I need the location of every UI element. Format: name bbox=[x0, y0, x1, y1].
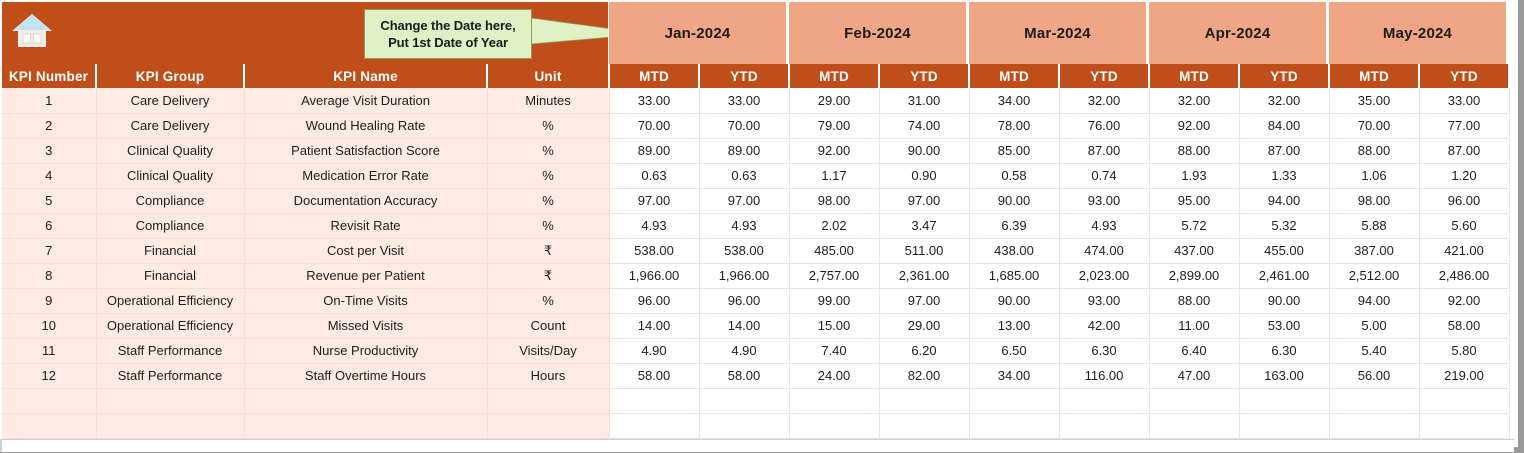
kpi-name-cell[interactable] bbox=[244, 413, 487, 438]
month-header-jan-2024: Jan-2024 bbox=[608, 0, 788, 64]
table-header-row: KPI NumberKPI GroupKPI NameUnitMTDYTDMTD… bbox=[1, 64, 1509, 88]
value-cell-jan-2024-mtd[interactable]: 1,966.00 bbox=[609, 263, 699, 288]
value-cell-may-2024-mtd[interactable]: 5.40 bbox=[1329, 338, 1419, 363]
unit-cell[interactable]: % bbox=[487, 213, 609, 238]
table-row: 12Staff PerformanceStaff Overtime HoursH… bbox=[1, 363, 1509, 388]
value-cell-may-2024-ytd[interactable]: 219.00 bbox=[1419, 363, 1509, 388]
value-cell-apr-2024-ytd[interactable]: 87.00 bbox=[1239, 138, 1329, 163]
kpi-dashboard-sheet: Change the Date here, Put 1st Date of Ye… bbox=[0, 0, 1524, 453]
value-cell-may-2024-mtd[interactable]: 88.00 bbox=[1329, 138, 1419, 163]
value-cell-may-2024-ytd[interactable]: 5.60 bbox=[1419, 213, 1509, 238]
value-cell-jan-2024-ytd[interactable]: 33.00 bbox=[699, 88, 789, 113]
col-header-may-2024-mtd[interactable]: MTD bbox=[1329, 64, 1419, 88]
kpi-name-cell[interactable]: Revisit Rate bbox=[244, 213, 487, 238]
kpi-name-cell[interactable]: On-Time Visits bbox=[244, 288, 487, 313]
value-cell-may-2024-ytd[interactable] bbox=[1419, 413, 1509, 438]
kpi-name-cell[interactable]: Medication Error Rate bbox=[244, 163, 487, 188]
value-cell-mar-2024-ytd[interactable]: 93.00 bbox=[1059, 288, 1149, 313]
value-cell-may-2024-mtd[interactable]: 1.06 bbox=[1329, 163, 1419, 188]
kpi-name-cell[interactable]: Patient Satisfaction Score bbox=[244, 138, 487, 163]
value-cell-apr-2024-ytd[interactable]: 53.00 bbox=[1239, 313, 1329, 338]
value-cell-jan-2024-ytd[interactable]: 96.00 bbox=[699, 288, 789, 313]
value-cell-jan-2024-ytd[interactable]: 1,966.00 bbox=[699, 263, 789, 288]
value-cell-mar-2024-mtd[interactable]: 90.00 bbox=[969, 288, 1059, 313]
unit-cell[interactable]: % bbox=[487, 113, 609, 138]
value-cell-mar-2024-ytd[interactable]: 42.00 bbox=[1059, 313, 1149, 338]
unit-cell[interactable]: Hours bbox=[487, 363, 609, 388]
value-cell-jan-2024-ytd[interactable]: 14.00 bbox=[699, 313, 789, 338]
kpi-name-cell[interactable]: Wound Healing Rate bbox=[244, 113, 487, 138]
table-row: 1Care DeliveryAverage Visit DurationMinu… bbox=[1, 88, 1509, 113]
unit-cell[interactable]: ₹ bbox=[487, 263, 609, 288]
value-cell-apr-2024-mtd[interactable]: 92.00 bbox=[1149, 113, 1239, 138]
value-cell-mar-2024-mtd[interactable]: 6.50 bbox=[969, 338, 1059, 363]
value-cell-feb-2024-ytd[interactable]: 82.00 bbox=[879, 363, 969, 388]
kpi-number-cell[interactable]: 8 bbox=[1, 263, 96, 288]
month-header-feb-2024: Feb-2024 bbox=[788, 0, 968, 64]
month-header-apr-2024: Apr-2024 bbox=[1148, 0, 1328, 64]
value-cell-feb-2024-mtd[interactable]: 2.02 bbox=[789, 213, 879, 238]
kpi-group-cell[interactable]: Compliance bbox=[96, 213, 244, 238]
table-row: 6ComplianceRevisit Rate%4.934.932.023.47… bbox=[1, 213, 1509, 238]
value-cell-may-2024-mtd[interactable]: 56.00 bbox=[1329, 363, 1419, 388]
col-header-feb-2024-mtd[interactable]: MTD bbox=[789, 64, 879, 88]
callout-line-2: Put 1st Date of Year bbox=[388, 34, 508, 51]
kpi-number-cell[interactable] bbox=[1, 388, 96, 413]
value-cell-feb-2024-mtd[interactable]: 1.17 bbox=[789, 163, 879, 188]
col-header-kpi-name[interactable]: KPI Name bbox=[244, 64, 487, 88]
value-cell-apr-2024-ytd[interactable] bbox=[1239, 413, 1329, 438]
value-cell-apr-2024-mtd[interactable] bbox=[1149, 388, 1239, 413]
table-row bbox=[1, 413, 1509, 438]
kpi-group-cell[interactable]: Compliance bbox=[96, 188, 244, 213]
value-cell-may-2024-mtd[interactable] bbox=[1329, 388, 1419, 413]
value-cell-feb-2024-mtd[interactable] bbox=[789, 388, 879, 413]
kpi-group-cell[interactable]: Clinical Quality bbox=[96, 163, 244, 188]
value-cell-mar-2024-ytd[interactable]: 116.00 bbox=[1059, 363, 1149, 388]
value-cell-jan-2024-mtd[interactable]: 0.63 bbox=[609, 163, 699, 188]
value-cell-mar-2024-ytd[interactable]: 32.00 bbox=[1059, 88, 1149, 113]
value-cell-feb-2024-mtd[interactable]: 29.00 bbox=[789, 88, 879, 113]
col-header-apr-2024-ytd[interactable]: YTD bbox=[1239, 64, 1329, 88]
value-cell-may-2024-ytd[interactable]: 2,486.00 bbox=[1419, 263, 1509, 288]
kpi-group-cell[interactable]: Staff Performance bbox=[96, 363, 244, 388]
kpi-number-cell[interactable]: 5 bbox=[1, 188, 96, 213]
unit-cell[interactable]: % bbox=[487, 163, 609, 188]
col-header-unit[interactable]: Unit bbox=[487, 64, 609, 88]
value-cell-feb-2024-mtd[interactable]: 79.00 bbox=[789, 113, 879, 138]
kpi-name-cell[interactable]: Nurse Productivity bbox=[244, 338, 487, 363]
value-cell-apr-2024-ytd[interactable]: 90.00 bbox=[1239, 288, 1329, 313]
kpi-number-cell[interactable]: 2 bbox=[1, 113, 96, 138]
value-cell-jan-2024-mtd[interactable] bbox=[609, 388, 699, 413]
col-header-kpi-group[interactable]: KPI Group bbox=[96, 64, 244, 88]
unit-cell[interactable]: % bbox=[487, 288, 609, 313]
value-cell-may-2024-ytd[interactable] bbox=[1419, 388, 1509, 413]
value-cell-apr-2024-mtd[interactable]: 88.00 bbox=[1149, 138, 1239, 163]
unit-cell[interactable] bbox=[487, 413, 609, 438]
value-cell-may-2024-mtd[interactable]: 387.00 bbox=[1329, 238, 1419, 263]
kpi-number-cell[interactable]: 12 bbox=[1, 363, 96, 388]
value-cell-jan-2024-mtd[interactable]: 89.00 bbox=[609, 138, 699, 163]
value-cell-mar-2024-mtd[interactable]: 90.00 bbox=[969, 188, 1059, 213]
value-cell-feb-2024-mtd[interactable]: 98.00 bbox=[789, 188, 879, 213]
kpi-group-cell[interactable]: Operational Efficiency bbox=[96, 288, 244, 313]
value-cell-apr-2024-mtd[interactable]: 437.00 bbox=[1149, 238, 1239, 263]
table-row: 11Staff PerformanceNurse ProductivityVis… bbox=[1, 338, 1509, 363]
unit-cell[interactable]: % bbox=[487, 138, 609, 163]
value-cell-feb-2024-ytd[interactable]: 2,361.00 bbox=[879, 263, 969, 288]
value-cell-may-2024-ytd[interactable]: 92.00 bbox=[1419, 288, 1509, 313]
value-cell-feb-2024-ytd[interactable]: 0.90 bbox=[879, 163, 969, 188]
value-cell-apr-2024-mtd[interactable]: 95.00 bbox=[1149, 188, 1239, 213]
table-row: 4Clinical QualityMedication Error Rate%0… bbox=[1, 163, 1509, 188]
col-header-kpi-number[interactable]: KPI Number bbox=[1, 64, 96, 88]
kpi-group-cell[interactable]: Care Delivery bbox=[96, 88, 244, 113]
value-cell-mar-2024-mtd[interactable]: 1,685.00 bbox=[969, 263, 1059, 288]
value-cell-apr-2024-ytd[interactable]: 84.00 bbox=[1239, 113, 1329, 138]
value-cell-jan-2024-ytd[interactable]: 97.00 bbox=[699, 188, 789, 213]
value-cell-jan-2024-mtd[interactable]: 96.00 bbox=[609, 288, 699, 313]
kpi-group-cell[interactable]: Operational Efficiency bbox=[96, 313, 244, 338]
value-cell-apr-2024-mtd[interactable]: 11.00 bbox=[1149, 313, 1239, 338]
kpi-group-cell[interactable]: Clinical Quality bbox=[96, 138, 244, 163]
unit-cell[interactable] bbox=[487, 388, 609, 413]
value-cell-apr-2024-mtd[interactable]: 1.93 bbox=[1149, 163, 1239, 188]
kpi-number-cell[interactable]: 11 bbox=[1, 338, 96, 363]
value-cell-jan-2024-mtd[interactable]: 58.00 bbox=[609, 363, 699, 388]
value-cell-mar-2024-ytd[interactable] bbox=[1059, 413, 1149, 438]
unit-cell[interactable]: Minutes bbox=[487, 88, 609, 113]
value-cell-may-2024-mtd[interactable]: 70.00 bbox=[1329, 113, 1419, 138]
col-header-jan-2024-mtd[interactable]: MTD bbox=[609, 64, 699, 88]
value-cell-mar-2024-mtd[interactable]: 13.00 bbox=[969, 313, 1059, 338]
value-cell-feb-2024-ytd[interactable]: 97.00 bbox=[879, 288, 969, 313]
unit-cell[interactable]: Count bbox=[487, 313, 609, 338]
kpi-number-cell[interactable]: 4 bbox=[1, 163, 96, 188]
value-cell-jan-2024-ytd[interactable]: 0.63 bbox=[699, 163, 789, 188]
value-cell-jan-2024-ytd[interactable]: 4.93 bbox=[699, 213, 789, 238]
value-cell-mar-2024-ytd[interactable]: 76.00 bbox=[1059, 113, 1149, 138]
value-cell-may-2024-mtd[interactable]: 35.00 bbox=[1329, 88, 1419, 113]
value-cell-mar-2024-mtd[interactable] bbox=[969, 413, 1059, 438]
kpi-number-cell[interactable]: 1 bbox=[1, 88, 96, 113]
kpi-number-cell[interactable]: 7 bbox=[1, 238, 96, 263]
kpi-group-cell[interactable]: Financial bbox=[96, 238, 244, 263]
value-cell-feb-2024-ytd[interactable]: 511.00 bbox=[879, 238, 969, 263]
value-cell-apr-2024-ytd[interactable]: 163.00 bbox=[1239, 363, 1329, 388]
kpi-name-cell[interactable]: Staff Overtime Hours bbox=[244, 363, 487, 388]
value-cell-apr-2024-mtd[interactable]: 2,899.00 bbox=[1149, 263, 1239, 288]
value-cell-jan-2024-mtd[interactable] bbox=[609, 413, 699, 438]
value-cell-may-2024-mtd[interactable] bbox=[1329, 413, 1419, 438]
value-cell-feb-2024-ytd[interactable] bbox=[879, 388, 969, 413]
month-header-strip: Jan-2024Feb-2024Mar-2024Apr-2024May-2024 bbox=[608, 0, 1508, 64]
value-cell-feb-2024-mtd[interactable]: 485.00 bbox=[789, 238, 879, 263]
unit-cell[interactable]: Visits/Day bbox=[487, 338, 609, 363]
col-header-feb-2024-ytd[interactable]: YTD bbox=[879, 64, 969, 88]
kpi-table: KPI NumberKPI GroupKPI NameUnitMTDYTDMTD… bbox=[0, 64, 1510, 439]
value-cell-mar-2024-ytd[interactable]: 6.30 bbox=[1059, 338, 1149, 363]
table-row: 7FinancialCost per Visit₹538.00538.00485… bbox=[1, 238, 1509, 263]
value-cell-feb-2024-ytd[interactable]: 29.00 bbox=[879, 313, 969, 338]
value-cell-jan-2024-ytd[interactable]: 4.90 bbox=[699, 338, 789, 363]
value-cell-apr-2024-ytd[interactable]: 94.00 bbox=[1239, 188, 1329, 213]
value-cell-feb-2024-ytd[interactable]: 74.00 bbox=[879, 113, 969, 138]
kpi-number-cell[interactable]: 6 bbox=[1, 213, 96, 238]
table-row: 10Operational EfficiencyMissed VisitsCou… bbox=[1, 313, 1509, 338]
value-cell-feb-2024-mtd[interactable]: 24.00 bbox=[789, 363, 879, 388]
value-cell-feb-2024-mtd[interactable]: 2,757.00 bbox=[789, 263, 879, 288]
value-cell-jan-2024-ytd[interactable]: 58.00 bbox=[699, 363, 789, 388]
kpi-group-cell[interactable]: Care Delivery bbox=[96, 113, 244, 138]
value-cell-may-2024-ytd[interactable]: 58.00 bbox=[1419, 313, 1509, 338]
kpi-name-cell[interactable] bbox=[244, 388, 487, 413]
kpi-name-cell[interactable]: Cost per Visit bbox=[244, 238, 487, 263]
col-header-mar-2024-mtd[interactable]: MTD bbox=[969, 64, 1059, 88]
value-cell-apr-2024-mtd[interactable]: 47.00 bbox=[1149, 363, 1239, 388]
sheet-bottom-edge bbox=[0, 439, 1514, 452]
value-cell-jan-2024-ytd[interactable] bbox=[699, 388, 789, 413]
value-cell-may-2024-ytd[interactable]: 421.00 bbox=[1419, 238, 1509, 263]
value-cell-feb-2024-ytd[interactable]: 6.20 bbox=[879, 338, 969, 363]
kpi-group-cell[interactable]: Financial bbox=[96, 263, 244, 288]
value-cell-may-2024-mtd[interactable]: 2,512.00 bbox=[1329, 263, 1419, 288]
value-cell-mar-2024-mtd[interactable]: 85.00 bbox=[969, 138, 1059, 163]
unit-cell[interactable]: % bbox=[487, 188, 609, 213]
home-icon[interactable] bbox=[10, 8, 54, 52]
kpi-number-cell[interactable]: 9 bbox=[1, 288, 96, 313]
value-cell-mar-2024-mtd[interactable]: 78.00 bbox=[969, 113, 1059, 138]
value-cell-may-2024-mtd[interactable]: 98.00 bbox=[1329, 188, 1419, 213]
value-cell-may-2024-ytd[interactable]: 5.80 bbox=[1419, 338, 1509, 363]
kpi-number-cell[interactable]: 10 bbox=[1, 313, 96, 338]
value-cell-mar-2024-ytd[interactable]: 4.93 bbox=[1059, 213, 1149, 238]
value-cell-may-2024-ytd[interactable]: 96.00 bbox=[1419, 188, 1509, 213]
kpi-name-cell[interactable]: Missed Visits bbox=[244, 313, 487, 338]
value-cell-may-2024-ytd[interactable]: 33.00 bbox=[1419, 88, 1509, 113]
value-cell-feb-2024-ytd[interactable]: 97.00 bbox=[879, 188, 969, 213]
kpi-name-cell[interactable]: Average Visit Duration bbox=[244, 88, 487, 113]
value-cell-feb-2024-mtd[interactable]: 15.00 bbox=[789, 313, 879, 338]
value-cell-jan-2024-mtd[interactable]: 14.00 bbox=[609, 313, 699, 338]
kpi-group-cell[interactable] bbox=[96, 413, 244, 438]
value-cell-jan-2024-mtd[interactable]: 4.90 bbox=[609, 338, 699, 363]
value-cell-mar-2024-ytd[interactable]: 87.00 bbox=[1059, 138, 1149, 163]
value-cell-mar-2024-mtd[interactable] bbox=[969, 388, 1059, 413]
value-cell-mar-2024-mtd[interactable]: 34.00 bbox=[969, 88, 1059, 113]
value-cell-jan-2024-mtd[interactable]: 70.00 bbox=[609, 113, 699, 138]
value-cell-feb-2024-ytd[interactable]: 3.47 bbox=[879, 213, 969, 238]
value-cell-apr-2024-ytd[interactable]: 32.00 bbox=[1239, 88, 1329, 113]
value-cell-apr-2024-ytd[interactable] bbox=[1239, 388, 1329, 413]
value-cell-feb-2024-mtd[interactable]: 7.40 bbox=[789, 338, 879, 363]
col-header-apr-2024-mtd[interactable]: MTD bbox=[1149, 64, 1239, 88]
table-row: 9Operational EfficiencyOn-Time Visits%96… bbox=[1, 288, 1509, 313]
kpi-number-cell[interactable]: 3 bbox=[1, 138, 96, 163]
value-cell-may-2024-ytd[interactable]: 77.00 bbox=[1419, 113, 1509, 138]
value-cell-jan-2024-ytd[interactable]: 89.00 bbox=[699, 138, 789, 163]
value-cell-feb-2024-mtd[interactable] bbox=[789, 413, 879, 438]
value-cell-apr-2024-mtd[interactable]: 5.72 bbox=[1149, 213, 1239, 238]
table-row: 5ComplianceDocumentation Accuracy%97.009… bbox=[1, 188, 1509, 213]
value-cell-feb-2024-ytd[interactable]: 31.00 bbox=[879, 88, 969, 113]
value-cell-may-2024-ytd[interactable]: 1.20 bbox=[1419, 163, 1509, 188]
col-header-may-2024-ytd[interactable]: YTD bbox=[1419, 64, 1509, 88]
date-callout-box[interactable]: Change the Date here, Put 1st Date of Ye… bbox=[364, 9, 532, 59]
table-row: 8FinancialRevenue per Patient₹1,966.001,… bbox=[1, 263, 1509, 288]
value-cell-apr-2024-ytd[interactable]: 1.33 bbox=[1239, 163, 1329, 188]
value-cell-feb-2024-ytd[interactable] bbox=[879, 413, 969, 438]
value-cell-apr-2024-ytd[interactable]: 5.32 bbox=[1239, 213, 1329, 238]
kpi-name-cell[interactable]: Documentation Accuracy bbox=[244, 188, 487, 213]
value-cell-mar-2024-mtd[interactable]: 438.00 bbox=[969, 238, 1059, 263]
month-header-may-2024: May-2024 bbox=[1328, 0, 1508, 64]
value-cell-mar-2024-mtd[interactable]: 6.39 bbox=[969, 213, 1059, 238]
value-cell-may-2024-mtd[interactable]: 5.88 bbox=[1329, 213, 1419, 238]
value-cell-mar-2024-ytd[interactable]: 2,023.00 bbox=[1059, 263, 1149, 288]
value-cell-jan-2024-ytd[interactable]: 70.00 bbox=[699, 113, 789, 138]
table-row: 2Care DeliveryWound Healing Rate%70.0070… bbox=[1, 113, 1509, 138]
kpi-group-cell[interactable]: Staff Performance bbox=[96, 338, 244, 363]
value-cell-may-2024-ytd[interactable]: 87.00 bbox=[1419, 138, 1509, 163]
col-header-mar-2024-ytd[interactable]: YTD bbox=[1059, 64, 1149, 88]
value-cell-apr-2024-ytd[interactable]: 2,461.00 bbox=[1239, 263, 1329, 288]
value-cell-jan-2024-ytd[interactable] bbox=[699, 413, 789, 438]
kpi-name-cell[interactable]: Revenue per Patient bbox=[244, 263, 487, 288]
value-cell-feb-2024-ytd[interactable]: 90.00 bbox=[879, 138, 969, 163]
value-cell-jan-2024-mtd[interactable]: 538.00 bbox=[609, 238, 699, 263]
unit-cell[interactable]: ₹ bbox=[487, 238, 609, 263]
value-cell-feb-2024-mtd[interactable]: 92.00 bbox=[789, 138, 879, 163]
value-cell-mar-2024-ytd[interactable]: 474.00 bbox=[1059, 238, 1149, 263]
value-cell-apr-2024-ytd[interactable]: 6.30 bbox=[1239, 338, 1329, 363]
col-header-jan-2024-ytd[interactable]: YTD bbox=[699, 64, 789, 88]
table-row: 3Clinical QualityPatient Satisfaction Sc… bbox=[1, 138, 1509, 163]
value-cell-jan-2024-mtd[interactable]: 33.00 bbox=[609, 88, 699, 113]
value-cell-mar-2024-ytd[interactable]: 93.00 bbox=[1059, 188, 1149, 213]
value-cell-apr-2024-mtd[interactable]: 88.00 bbox=[1149, 288, 1239, 313]
value-cell-apr-2024-ytd[interactable]: 455.00 bbox=[1239, 238, 1329, 263]
value-cell-mar-2024-ytd[interactable]: 0.74 bbox=[1059, 163, 1149, 188]
kpi-group-cell[interactable] bbox=[96, 388, 244, 413]
value-cell-apr-2024-mtd[interactable]: 6.40 bbox=[1149, 338, 1239, 363]
value-cell-may-2024-mtd[interactable]: 94.00 bbox=[1329, 288, 1419, 313]
value-cell-may-2024-mtd[interactable]: 5.00 bbox=[1329, 313, 1419, 338]
value-cell-jan-2024-mtd[interactable]: 4.93 bbox=[609, 213, 699, 238]
month-header-mar-2024: Mar-2024 bbox=[968, 0, 1148, 64]
value-cell-mar-2024-ytd[interactable] bbox=[1059, 388, 1149, 413]
value-cell-apr-2024-mtd[interactable]: 32.00 bbox=[1149, 88, 1239, 113]
value-cell-mar-2024-mtd[interactable]: 0.58 bbox=[969, 163, 1059, 188]
value-cell-feb-2024-mtd[interactable]: 99.00 bbox=[789, 288, 879, 313]
kpi-number-cell[interactable] bbox=[1, 413, 96, 438]
value-cell-jan-2024-mtd[interactable]: 97.00 bbox=[609, 188, 699, 213]
value-cell-jan-2024-ytd[interactable]: 538.00 bbox=[699, 238, 789, 263]
value-cell-apr-2024-mtd[interactable] bbox=[1149, 413, 1239, 438]
value-cell-mar-2024-mtd[interactable]: 34.00 bbox=[969, 363, 1059, 388]
callout-line-1: Change the Date here, bbox=[380, 17, 515, 34]
table-row bbox=[1, 388, 1509, 413]
